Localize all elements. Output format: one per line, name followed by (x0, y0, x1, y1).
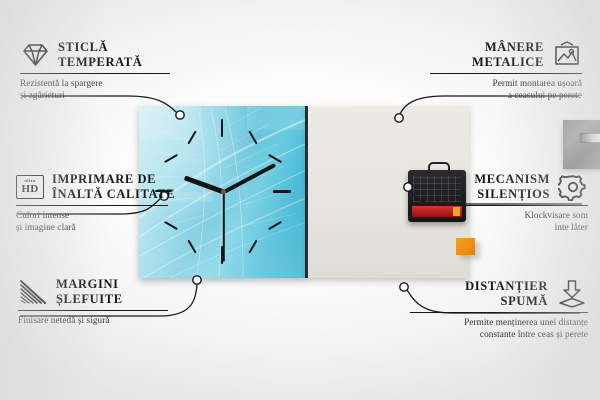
callout-title-line1: MARGINI (56, 277, 123, 292)
ultra-hd-large-text: HD (22, 184, 39, 195)
callout-title-line2: TEMPERATĂ (58, 55, 142, 70)
gear-icon (558, 173, 588, 201)
picture-hanger-icon (552, 41, 582, 69)
callout-sub-line2: și imagine clară (16, 221, 178, 233)
leader-dot-mechanism (404, 183, 412, 191)
callout-sub-line1: Permite menținerea unei distanțe (410, 316, 588, 328)
leader-dot-handles (395, 114, 403, 122)
leader-dot-spacer (400, 283, 408, 291)
callout-title-line1: MECANISM (474, 172, 550, 187)
callout-rule (16, 205, 168, 207)
callout-title-line2: SPUMĂ (410, 294, 548, 309)
ultra-hd-badge-icon: ultra HD (16, 175, 44, 199)
callout-sub-line2: inte låter (438, 221, 588, 233)
callout-title-line1: DISTANȚIER (410, 279, 548, 294)
foam-spacer-icon (556, 280, 588, 308)
callout-sub-line1: Finisare netedă și sigură (18, 314, 168, 326)
infographic-canvas: STICLĂ TEMPERATĂ Rezistentă la spargere … (0, 0, 600, 400)
callout-title-line2: ȘLEFUITE (56, 292, 123, 307)
callout-sub-line1: Rezistentă la spargere (20, 77, 170, 89)
callout-sub-line2: și zgârieturi (20, 89, 170, 101)
polished-edge-icon (18, 279, 48, 305)
callout-rule (438, 205, 588, 207)
callout-title-line1: IMPRIMARE DE (52, 172, 175, 187)
callout-silent-mechanism: MECANISM SILENȚIOS Klockvisare som inte … (438, 172, 588, 233)
callout-title-line2: ÎNALTĂ CALITATE (52, 187, 175, 202)
callout-sub-line2: a ceasului pe perete (430, 89, 582, 101)
callout-title-line1: STICLĂ (58, 40, 142, 55)
callout-sub-line1: Klockvisare som (438, 209, 588, 221)
callout-title-line1: MÂNERE (472, 40, 544, 55)
callout-title-line2: SILENȚIOS (474, 187, 550, 202)
callout-sub-line1: Culori intense (16, 209, 178, 221)
diamond-icon (20, 42, 50, 68)
callout-sub-line2: constante între ceas și perete (410, 328, 588, 340)
leader-dot-glass (176, 111, 184, 119)
callout-title-line2: METALICE (472, 55, 544, 70)
callout-foam-spacer: DISTANȚIER SPUMĂ Permite menținerea unei… (410, 279, 588, 340)
callout-rule (430, 73, 582, 75)
callout-high-quality-print: ultra HD IMPRIMARE DE ÎNALTĂ CALITATE Cu… (16, 172, 178, 233)
callout-sub-line1: Permit montarea ușoară (430, 77, 582, 89)
callout-polished-edges: MARGINI ȘLEFUITE Finisare netedă și sigu… (18, 277, 168, 326)
callout-rule (20, 73, 170, 75)
callout-tempered-glass: STICLĂ TEMPERATĂ Rezistentă la spargere … (20, 40, 170, 101)
callout-rule (410, 312, 588, 314)
callout-metal-handles: MÂNERE METALICE Permit montarea ușoară a… (430, 40, 582, 101)
callout-rule (18, 310, 168, 312)
leader-dot-edges (193, 276, 201, 284)
